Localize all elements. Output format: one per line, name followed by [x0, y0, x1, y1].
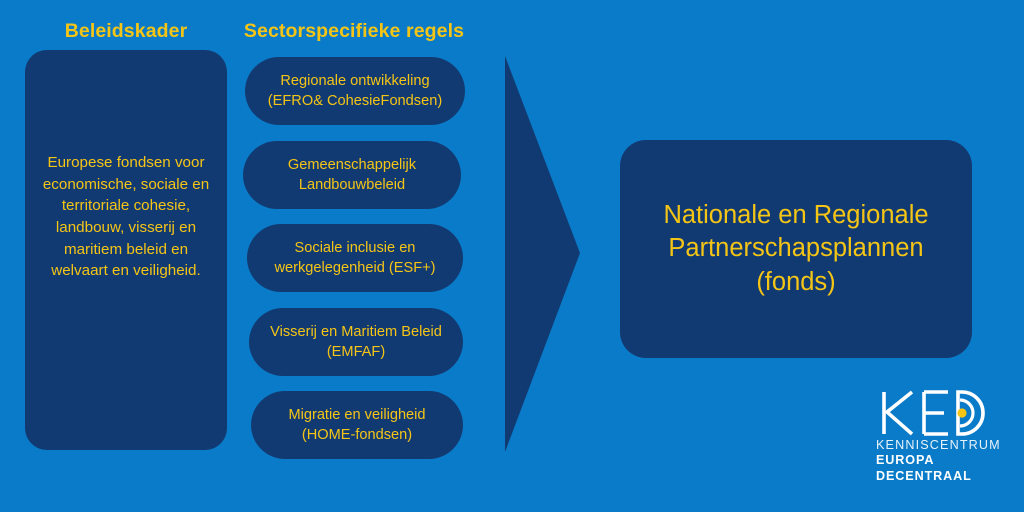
outcome-label: Nationale en Regionale Partnerschapsplan…	[649, 199, 942, 300]
sector-rule-item[interactable]: Sociale inclusie en werkgelegenheid (ESF…	[247, 224, 463, 292]
ked-monogram-icon	[876, 388, 1000, 438]
sector-rule-item[interactable]: Visserij en Maritiem Beleid (EMFAF)	[249, 308, 463, 376]
sector-rule-label: Regionale ontwikkeling (EFRO& CohesieFon…	[260, 71, 450, 111]
policy-frame-heading: Beleidskader	[25, 22, 227, 42]
sector-rules-list: Regionale ontwikkeling (EFRO& CohesieFon…	[243, 57, 467, 453]
policy-frame-description: Europese fondsen voor economische, socia…	[33, 152, 219, 281]
sector-rule-item[interactable]: Gemeenschappelijk Landbouwbeleid	[243, 141, 461, 209]
right-arrow-icon	[500, 50, 586, 460]
sector-rule-item[interactable]: Regionale ontwikkeling (EFRO& CohesieFon…	[245, 57, 465, 125]
sector-rule-label: Visserij en Maritiem Beleid (EMFAF)	[262, 322, 450, 362]
sector-rules-heading: Sectorspecifieke regels	[243, 22, 465, 42]
ked-accent-dot-icon	[957, 408, 966, 417]
sector-rule-item[interactable]: Migratie en veiligheid (HOME-fondsen)	[251, 391, 463, 459]
outcome-box: Nationale en Regionale Partnerschapsplan…	[620, 140, 972, 358]
sector-rule-label: Gemeenschappelijk Landbouwbeleid	[280, 155, 424, 195]
ked-logo-line-europa: EUROPA	[876, 453, 1000, 468]
sector-rule-label: Migratie en veiligheid (HOME-fondsen)	[280, 405, 433, 445]
ked-logo: KENNISCENTRUM EUROPA DECENTRAAL	[876, 388, 1000, 496]
infographic-canvas: Beleidskader Sectorspecifieke regels Eur…	[0, 0, 1024, 512]
sector-rule-label: Sociale inclusie en werkgelegenheid (ESF…	[266, 238, 443, 278]
policy-frame-box: Europese fondsen voor economische, socia…	[25, 50, 227, 450]
ked-logo-line-kenniscentrum: KENNISCENTRUM	[876, 438, 1000, 453]
ked-logo-line-decentraal: DECENTRAAL	[876, 469, 1000, 484]
